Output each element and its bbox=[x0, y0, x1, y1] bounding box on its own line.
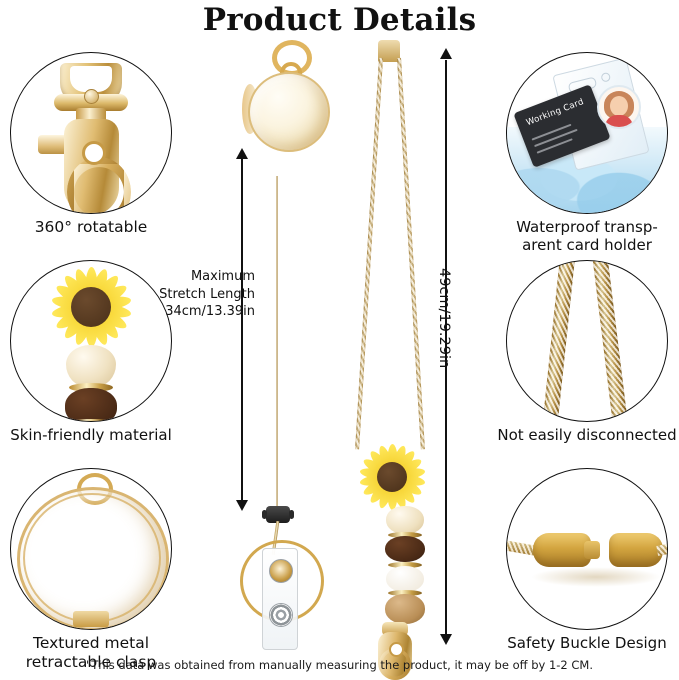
center-badge-reel-product bbox=[222, 40, 342, 180]
sunflower-bead-photo bbox=[10, 260, 172, 422]
lanyard-brown-bead bbox=[385, 536, 425, 562]
stretch-length-label: Maximum Stretch Length 34cm/13.39in bbox=[150, 268, 255, 321]
feature-safety-buckle: Safety Buckle Design bbox=[492, 468, 679, 652]
measurement-disclaimer: "This data was obtained from manually me… bbox=[0, 658, 679, 672]
reel-bottom-clip bbox=[73, 611, 109, 627]
gold-spacer-ring bbox=[69, 419, 113, 422]
sunflower-bead-illustration bbox=[31, 267, 151, 422]
reel-rim bbox=[23, 493, 161, 623]
sleeve-hole bbox=[600, 72, 611, 83]
braided-cord-right bbox=[592, 260, 628, 422]
reel-face bbox=[248, 72, 330, 152]
buckle-half-right bbox=[609, 533, 663, 567]
feature-not-easily-disconnected: Not easily disconnected bbox=[492, 260, 679, 444]
feature-caption: Safety Buckle Design bbox=[492, 634, 679, 652]
cream-silicone-bead bbox=[66, 345, 116, 387]
sunflower-center bbox=[71, 287, 111, 327]
strap-snap-bottom bbox=[269, 603, 293, 627]
lanyard-length-label: 49cm/19.29in bbox=[436, 268, 452, 368]
arrow-head-up bbox=[440, 48, 452, 59]
brown-silicone-bead bbox=[65, 388, 117, 422]
sunflower-icon bbox=[36, 267, 146, 347]
lanyard-sunflower bbox=[349, 444, 435, 510]
waterproof-card-holder-photo: Working Card bbox=[506, 52, 668, 214]
lanyard-strand-right bbox=[397, 58, 425, 450]
portrait-avatar bbox=[597, 85, 641, 129]
avatar-face bbox=[610, 96, 628, 116]
feature-waterproof-card-holder: Working Card Waterproof transp- arent ca… bbox=[492, 52, 679, 255]
vinyl-badge-strap bbox=[262, 548, 298, 650]
feature-caption: 360° rotatable bbox=[0, 218, 186, 237]
avatar-body bbox=[605, 115, 633, 129]
card-text-line bbox=[537, 138, 573, 153]
arrow-head-down bbox=[236, 500, 248, 511]
feature-caption: Waterproof transp- arent card holder bbox=[492, 218, 679, 255]
braided-gold-cord-photo bbox=[506, 260, 668, 422]
dimension-line bbox=[241, 158, 243, 502]
swivel-clasp-illustration bbox=[36, 63, 146, 213]
clasp-rivet bbox=[84, 89, 99, 104]
lanyard-clasp-hole bbox=[389, 642, 404, 657]
strap-snap-top bbox=[269, 559, 293, 583]
buckle-half-left bbox=[533, 533, 591, 567]
feature-360-rotatable: 360° rotatable bbox=[0, 52, 186, 237]
lanyard-sunflower-center bbox=[377, 462, 407, 492]
lanyard-white-bead bbox=[386, 566, 424, 592]
braided-cord-left bbox=[542, 260, 575, 422]
lanyard-cream-bead bbox=[386, 506, 424, 534]
clasp-pivot-hole bbox=[82, 141, 106, 165]
lanyard-strand-left bbox=[355, 58, 383, 450]
page-title: Product Details bbox=[0, 2, 679, 38]
product-details-infographic: Product Details 360° rotatable bbox=[0, 0, 679, 680]
swivel-clasp-photo bbox=[10, 52, 172, 214]
feature-retractable-clasp: Textured metal retractable clasp bbox=[0, 468, 186, 672]
feature-caption: Skin-friendly material bbox=[0, 426, 186, 444]
badge-reel-illustration bbox=[15, 473, 167, 625]
clasp-gate bbox=[67, 157, 131, 214]
feature-caption: Not easily disconnected bbox=[492, 426, 679, 444]
working-card-label: Working Card bbox=[525, 97, 585, 128]
lanyard-wood-bead bbox=[385, 594, 425, 624]
breakaway-buckle-photo bbox=[506, 468, 668, 630]
round-badge-reel-photo bbox=[10, 468, 172, 630]
reel-stretch-cord bbox=[276, 176, 278, 506]
buckle-reflection bbox=[531, 567, 661, 587]
arrow-head-down bbox=[440, 634, 452, 645]
